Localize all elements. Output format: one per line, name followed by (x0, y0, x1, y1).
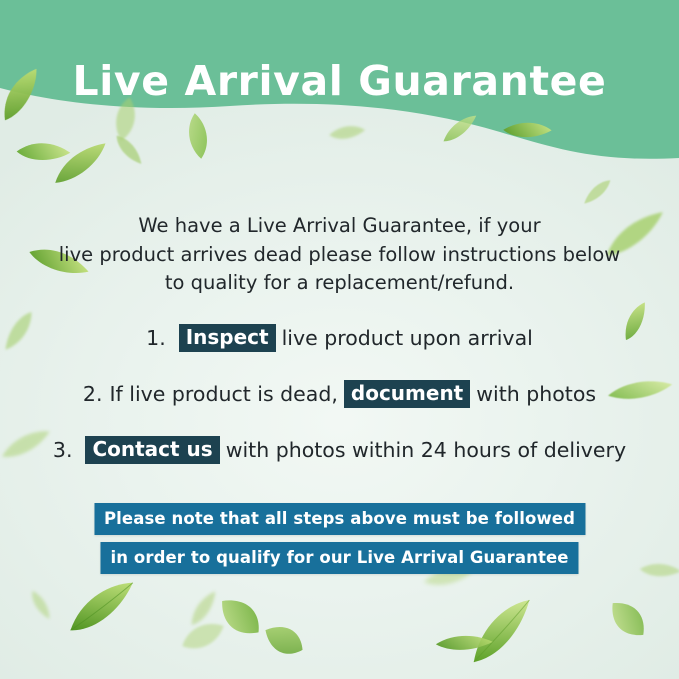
leaf-icon (60, 579, 143, 636)
leaf-icon (14, 128, 72, 178)
leaf-icon (181, 589, 227, 629)
leaf-icon (255, 612, 313, 668)
step-text-before: If live product is dead, (109, 382, 337, 406)
step-item-2: 2. If live product is dead, document wit… (0, 374, 679, 414)
leaf-icon (434, 625, 494, 664)
step-highlight-contact-us: Contact us (85, 436, 219, 464)
intro-line-3: to quality for a replacement/refund. (40, 269, 640, 298)
intro-line-2: live product arrives dead please follow … (40, 241, 640, 270)
step-highlight-inspect: Inspect (179, 324, 276, 352)
leaf-icon (174, 610, 232, 662)
leaf-icon (438, 113, 482, 144)
step-item-3: 3. Contact us with photos within 24 hour… (0, 430, 679, 470)
leaf-icon (501, 109, 554, 152)
steps-list: 1. Inspect live product upon arrival 2. … (0, 318, 679, 486)
leaf-icon (113, 130, 142, 170)
leaf-icon (47, 141, 115, 189)
page-title: Live Arrival Guarantee (0, 57, 679, 105)
live-arrival-guarantee-poster: Live Arrival Guarantee (0, 0, 679, 679)
leaf-icon (182, 110, 214, 161)
leaf-icon (207, 584, 274, 650)
step-item-1: 1. Inspect live product upon arrival (0, 318, 679, 358)
leaf-icon (637, 552, 679, 589)
leaf-icon (598, 589, 659, 650)
leaf-icon (327, 117, 366, 149)
leaf-icon (29, 588, 50, 622)
intro-paragraph: We have a Live Arrival Guarantee, if you… (40, 212, 640, 298)
step-highlight-document: document (344, 380, 470, 408)
step-text-after: with photos within 24 hours of delivery (226, 438, 626, 462)
note-banner: Please note that all steps above must be… (94, 503, 585, 574)
step-number: 1. (146, 326, 166, 350)
leaf-icon (578, 177, 616, 205)
note-line-1: Please note that all steps above must be… (94, 503, 585, 535)
note-line-2: in order to qualify for our Live Arrival… (100, 542, 578, 574)
step-text-after: with photos (476, 382, 596, 406)
step-number: 3. (53, 438, 73, 462)
intro-line-1: We have a Live Arrival Guarantee, if you… (40, 212, 640, 241)
step-text-after: live product upon arrival (282, 326, 533, 350)
step-number: 2. (83, 382, 103, 406)
leaf-icon (457, 596, 548, 669)
